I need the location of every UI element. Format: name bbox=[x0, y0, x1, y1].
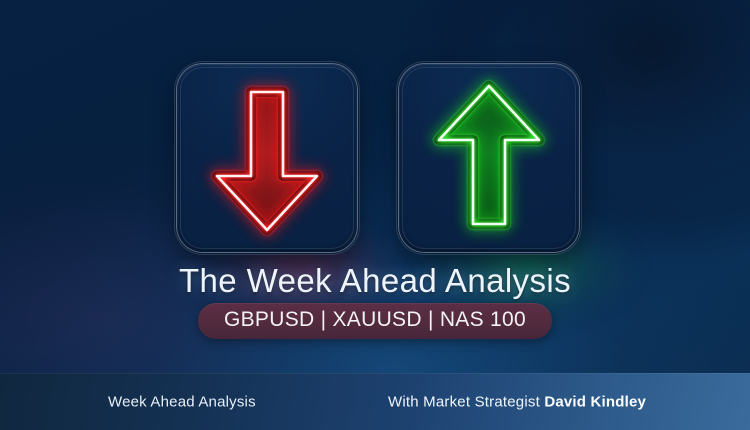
footer-presenter: With Market Strategist David Kindley bbox=[388, 393, 646, 410]
page-title: The Week Ahead Analysis bbox=[0, 262, 750, 300]
bullish-panel[interactable] bbox=[399, 64, 579, 252]
footer-bar: Week Ahead Analysis With Market Strategi… bbox=[0, 373, 750, 430]
neon-up-arrow-icon bbox=[399, 64, 579, 252]
footer-left-label: Week Ahead Analysis bbox=[108, 393, 256, 410]
neon-down-arrow-icon bbox=[177, 64, 357, 252]
footer-presenter-name: David Kindley bbox=[544, 393, 646, 410]
neon-panels bbox=[0, 64, 750, 254]
instruments-badge-wrap: GBPUSD | XAUUSD | NAS 100 bbox=[0, 303, 750, 339]
instruments-badge: GBPUSD | XAUUSD | NAS 100 bbox=[198, 303, 552, 339]
footer-presenter-prefix: With Market Strategist bbox=[388, 393, 544, 410]
bearish-panel[interactable] bbox=[177, 64, 357, 252]
promo-banner: The Week Ahead Analysis GBPUSD | XAUUSD … bbox=[0, 0, 750, 430]
